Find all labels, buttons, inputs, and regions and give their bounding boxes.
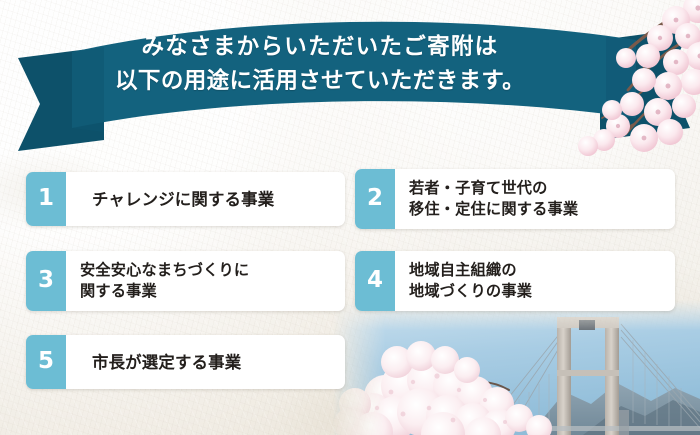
item-label: チャレンジに関する事業 <box>66 172 345 226</box>
item-label: 安全安心なまちづくりに 関する事業 <box>66 251 345 311</box>
poster-root: みなさまからいただいたご寄附は 以下の用途に活用させていただきます。 <box>0 0 700 435</box>
usage-list: 1 チャレンジに関する事業 2 若者・子育て世代の 移住・定住に関する事業 3 … <box>0 0 700 435</box>
item-number-badge: 5 <box>26 335 66 389</box>
list-item[interactable]: 1 チャレンジに関する事業 <box>26 172 345 226</box>
list-item[interactable]: 4 地域自主組織の 地域づくりの事業 <box>355 251 675 311</box>
item-label: 若者・子育て世代の 移住・定住に関する事業 <box>395 169 675 229</box>
item-number-badge: 1 <box>26 172 66 226</box>
item-number-badge: 4 <box>355 251 395 311</box>
list-item[interactable]: 3 安全安心なまちづくりに 関する事業 <box>26 251 345 311</box>
list-item[interactable]: 5 市長が選定する事業 <box>26 335 345 389</box>
list-item[interactable]: 2 若者・子育て世代の 移住・定住に関する事業 <box>355 169 675 229</box>
item-label: 市長が選定する事業 <box>66 335 345 389</box>
item-label: 地域自主組織の 地域づくりの事業 <box>395 251 675 311</box>
item-number-badge: 2 <box>355 169 395 229</box>
item-number-badge: 3 <box>26 251 66 311</box>
